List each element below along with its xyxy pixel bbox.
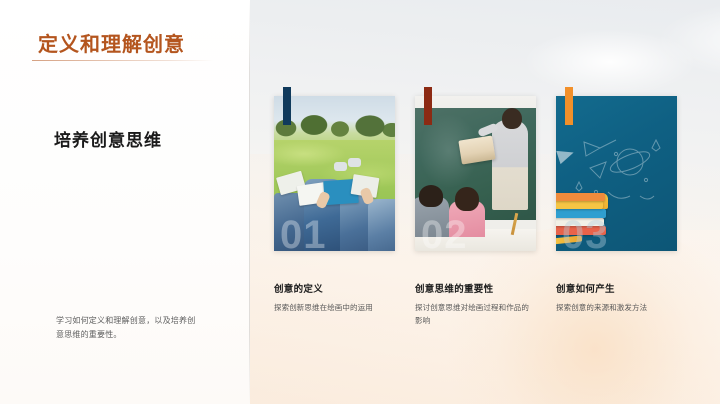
card-number-watermark: 02 (421, 215, 468, 251)
shoe-icon (334, 162, 347, 171)
card-accent-bar (565, 87, 573, 125)
slide-canvas: 定义和理解创意 培养创意思维 学习如何定义和理解创意，以及培养创意思维的重要性。 (0, 0, 720, 404)
child-figure (368, 199, 395, 251)
student-head (419, 185, 443, 207)
card-description: 探索创意的来源和激发方法 (556, 301, 672, 314)
page-subtitle: 培养创意思维 (54, 126, 162, 151)
book-icon (556, 201, 603, 209)
card-accent-bar (424, 87, 432, 125)
tree-line (274, 112, 395, 140)
card-item[interactable]: 02 创意思维的重要性 探讨创意思维对绘画过程和作品的影响 (415, 96, 536, 327)
card-thumbnail: 02 (415, 96, 536, 251)
shoe-icon (348, 158, 361, 167)
card-title: 创意思维的重要性 (415, 281, 536, 295)
left-caption-text: 学习如何定义和理解创意，以及培养创意思维的重要性。 (56, 314, 202, 342)
card-list: 01 创意的定义 探索创新思维在绘画中的运用 (274, 96, 677, 327)
card-number-watermark: 03 (562, 215, 609, 251)
book-icon (556, 193, 605, 201)
card-item[interactable]: 01 创意的定义 探索创新思维在绘画中的运用 (274, 96, 395, 327)
card-title: 创意的定义 (274, 281, 395, 295)
student-head (455, 187, 479, 211)
page-title: 定义和理解创意 (38, 28, 185, 57)
card-description: 探讨创意思维对绘画过程和作品的影响 (415, 301, 531, 327)
card-title: 创意如何产生 (556, 281, 677, 295)
card-thumbnail: 01 (274, 96, 395, 251)
panel-divider (249, 0, 250, 404)
card-number-watermark: 01 (280, 215, 327, 251)
card-thumbnail: 03 (556, 96, 677, 251)
card-item[interactable]: 03 创意如何产生 探索创意的来源和激发方法 (556, 96, 677, 327)
teacher-figure (492, 120, 528, 210)
card-description: 探索创新思维在绘画中的运用 (274, 301, 390, 314)
card-accent-bar (283, 87, 291, 125)
title-underline (32, 60, 214, 61)
teacher-head (502, 108, 522, 129)
